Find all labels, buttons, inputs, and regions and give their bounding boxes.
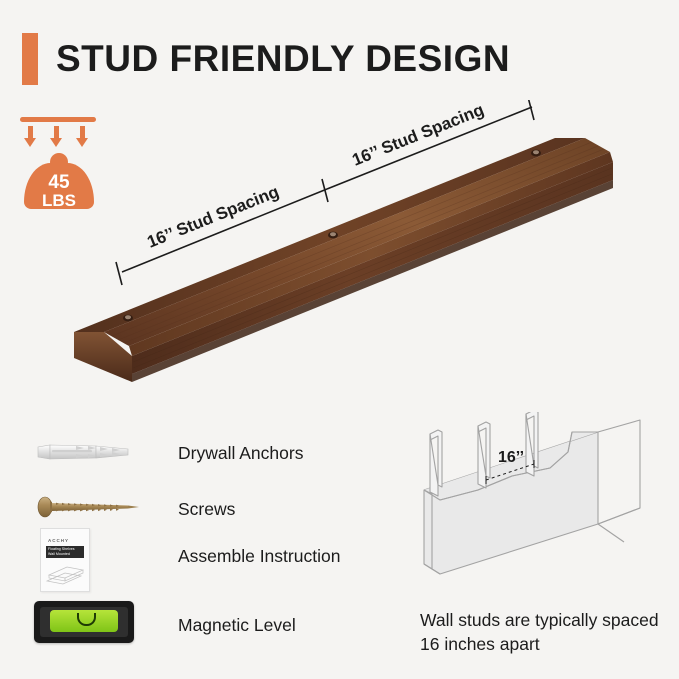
screw-hole	[328, 232, 338, 239]
level-bubble	[77, 613, 96, 626]
magnetic-level-icon	[28, 597, 148, 653]
stud-dimension-label: 16’’	[498, 449, 524, 466]
shelf-lip-top	[129, 152, 613, 356]
level-body	[34, 601, 134, 643]
dimension-label: 16’’ Stud Spacing	[144, 182, 281, 252]
booklet: ACCHY Floating Shelves Wall Mounted	[40, 528, 90, 592]
drywall-anchor-icon	[28, 425, 148, 481]
list-item-label: Magnetic Level	[178, 615, 296, 636]
stud-spacing-label-1: 16’’ Stud Spacing	[144, 182, 281, 252]
title-accent-bar	[22, 33, 38, 85]
booklet-logo: ACCHY	[48, 538, 69, 543]
booklet-title-band: Floating Shelves Wall Mounted	[46, 546, 84, 558]
dimension-label: 16’’ Stud Spacing	[349, 100, 486, 170]
infographic-page: STUD FRIENDLY DESIGN 45 LBS	[0, 0, 679, 679]
booklet-diagram	[43, 561, 89, 587]
svg-text:16’’ Stud Spacing: 16’’ Stud Spacing	[144, 182, 281, 252]
instruction-booklet-icon: ACCHY Floating Shelves Wall Mounted	[28, 528, 148, 584]
level-vial	[50, 610, 118, 632]
list-item: Drywall Anchors	[28, 425, 303, 481]
title-text: STUD FRIENDLY DESIGN	[56, 38, 510, 80]
screw-hole	[531, 150, 541, 157]
stud-spacing-label-2: 16’’ Stud Spacing	[349, 100, 486, 170]
shelf-svg: 16’’ Stud Spacing 16’’ Stud Spacing	[0, 100, 679, 400]
screw-svg	[36, 495, 142, 519]
wall-studs-diagram: 16’’	[400, 412, 665, 597]
anchor-svg	[36, 439, 134, 465]
screw-hole	[123, 315, 133, 322]
shelf-front-face	[132, 162, 613, 374]
wall-diagram-caption: Wall studs are typically spaced 16 inche…	[420, 608, 670, 656]
list-item: ACCHY Floating Shelves Wall Mounted	[28, 528, 340, 584]
shelf-illustration: 16’’ Stud Spacing 16’’ Stud Spacing	[0, 100, 679, 400]
page-title: STUD FRIENDLY DESIGN	[22, 33, 510, 85]
list-item-label: Screws	[178, 499, 235, 520]
list-item: Magnetic Level	[28, 597, 296, 653]
wall-studs-svg: 16’’	[400, 412, 665, 597]
list-item-label: Assemble Instruction	[178, 546, 340, 567]
booklet-title-line-1: Floating Shelves Wall Mounted	[48, 547, 82, 557]
list-item-label: Drywall Anchors	[178, 443, 303, 464]
svg-text:16’’ Stud Spacing: 16’’ Stud Spacing	[349, 100, 486, 170]
